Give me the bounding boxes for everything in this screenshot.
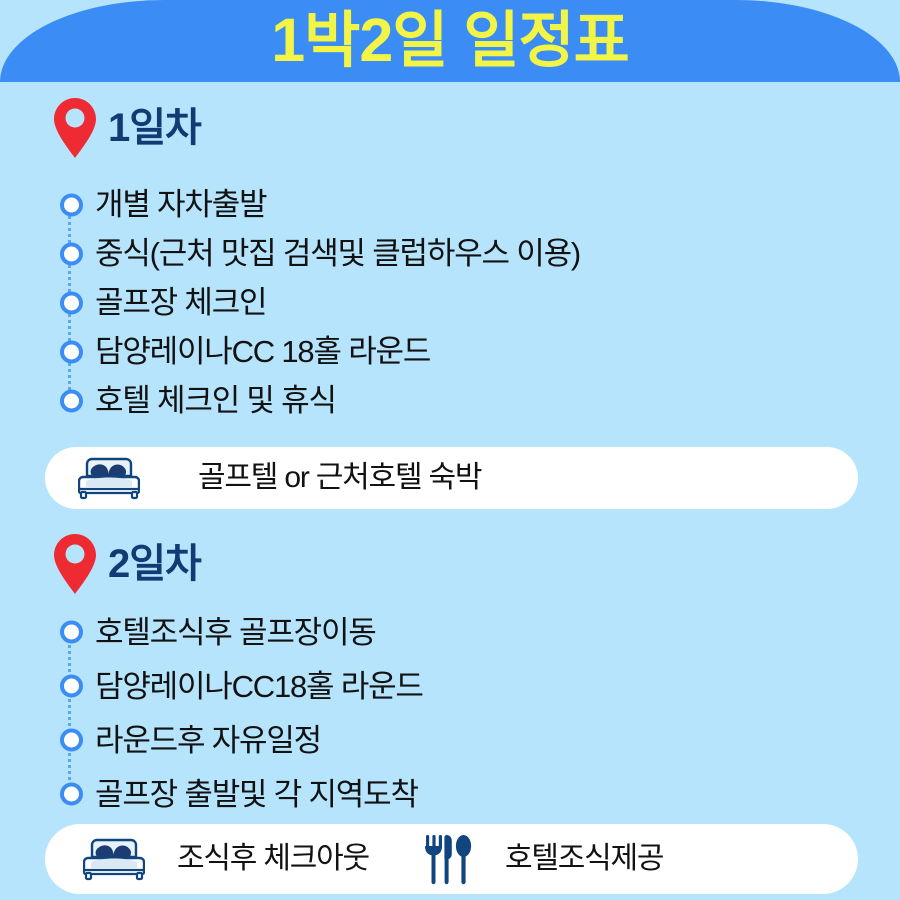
accommodation-pill-day-2: 조식후 체크아웃 호텔조식제공 xyxy=(45,824,858,894)
bullet-marker xyxy=(55,180,89,229)
header-bar: 1박2일 일정표 xyxy=(0,0,900,82)
timeline-day-2: 호텔조식후 골프장이동 담양레이나CC18홀 라운드 라운드후 자유일정 골프장… xyxy=(55,605,423,821)
bed-icon xyxy=(78,456,140,500)
list-item-label: 라운드후 자유일정 xyxy=(89,725,321,756)
pill-entry: 조식후 체크아웃 xyxy=(83,837,369,881)
list-item: 호텔 체크인 및 휴식 xyxy=(55,376,580,425)
bullet-marker xyxy=(55,713,89,767)
bullet-ring-icon xyxy=(60,729,83,752)
pill-entry-label: 호텔조식제공 xyxy=(505,844,663,874)
bullet-ring-icon xyxy=(60,340,83,363)
list-item: 담양레이나CC18홀 라운드 xyxy=(55,659,423,713)
list-item: 중식(근처 맛집 검색및 클럽하우스 이용) xyxy=(55,229,580,278)
pill-entry-label: 골프텔 or 근처호텔 숙박 xyxy=(198,463,481,493)
list-item-label: 담양레이나CC18홀 라운드 xyxy=(89,671,423,702)
bullet-marker xyxy=(55,229,89,278)
list-item: 담양레이나CC 18홀 라운드 xyxy=(55,327,580,376)
bullet-ring-icon xyxy=(60,242,83,265)
pill-entry: 호텔조식제공 xyxy=(423,833,663,885)
list-item: 호텔조식후 골프장이동 xyxy=(55,605,423,659)
list-item: 골프장 체크인 xyxy=(55,278,580,327)
list-item-label: 골프장 체크인 xyxy=(89,287,266,318)
day-label-1: 1일차 xyxy=(108,108,201,148)
bullet-ring-icon xyxy=(60,193,83,216)
list-item-label: 호텔조식후 골프장이동 xyxy=(89,617,376,648)
bullet-marker xyxy=(55,605,89,659)
pill-entry: 골프텔 or 근처호텔 숙박 xyxy=(78,456,481,500)
list-item-label: 개별 자차출발 xyxy=(89,189,266,220)
bullet-ring-icon xyxy=(60,291,83,314)
list-item-label: 중식(근처 맛집 검색및 클럽하우스 이용) xyxy=(89,238,580,269)
list-item-label: 골프장 출발및 각 지역도착 xyxy=(89,779,418,810)
timeline-day-1: 개별 자차출발 중식(근처 맛집 검색및 클럽하우스 이용) 골프장 체크인 담… xyxy=(55,180,580,425)
bullet-ring-icon xyxy=(60,783,83,806)
map-pin-icon xyxy=(52,97,98,159)
bed-icon xyxy=(83,837,145,881)
bullet-marker xyxy=(55,278,89,327)
list-item-label: 담양레이나CC 18홀 라운드 xyxy=(89,336,430,367)
bullet-marker xyxy=(55,659,89,713)
bullet-ring-icon xyxy=(60,675,83,698)
pill-entry-label: 조식후 체크아웃 xyxy=(177,844,369,874)
bullet-ring-icon xyxy=(60,389,83,412)
bullet-marker xyxy=(55,376,89,425)
day-label-2: 2일차 xyxy=(108,544,201,584)
day-heading-1: 1일차 xyxy=(52,97,201,159)
list-item: 개별 자차출발 xyxy=(55,180,580,229)
list-item: 라운드후 자유일정 xyxy=(55,713,423,767)
accommodation-pill-day-1: 골프텔 or 근처호텔 숙박 xyxy=(45,447,858,509)
map-pin-icon xyxy=(52,533,98,595)
list-item: 골프장 출발및 각 지역도착 xyxy=(55,767,423,821)
bullet-ring-icon xyxy=(60,621,83,644)
list-item-label: 호텔 체크인 및 휴식 xyxy=(89,385,336,416)
cutlery-icon xyxy=(423,833,473,885)
bullet-marker xyxy=(55,327,89,376)
day-heading-2: 2일차 xyxy=(52,533,201,595)
itinerary-poster: 1박2일 일정표 1일차 개별 자차출발 중식(근처 맛집 검색및 클럽하우스 … xyxy=(0,0,900,900)
bullet-marker xyxy=(55,767,89,821)
page-title: 1박2일 일정표 xyxy=(271,10,628,71)
